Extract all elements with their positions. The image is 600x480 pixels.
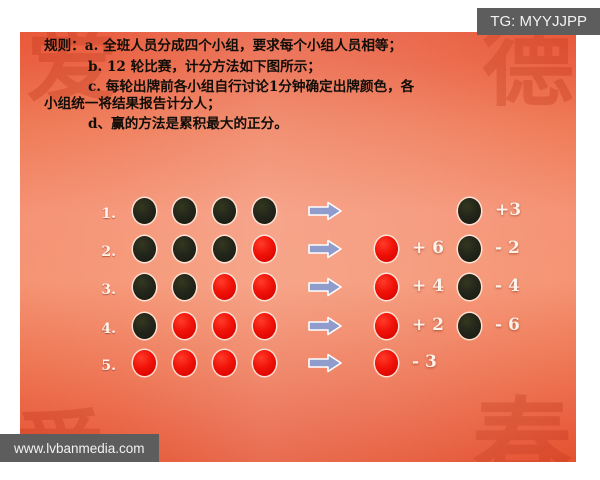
row-number-label: 1. [94,206,116,222]
black-card-dot [458,274,481,300]
black-card-dot [133,313,156,339]
right-arrow-icon [308,239,342,259]
black-card-dot [133,198,156,224]
right-arrow-icon [308,316,342,336]
diagram-row: 1.+3 [20,192,576,230]
red-card-dot [253,313,276,339]
right-arrow-icon [308,277,342,297]
rule-line-a: 规则：a. 全班人员分成四个小组，要求每个小组人员相等； [44,40,554,54]
black-group-score: - 4 [495,276,520,296]
rule-line-b: b. 12 轮比赛，计分方法如下图所示； [44,61,554,75]
red-card-dot [253,350,276,376]
right-arrow-icon [308,353,342,373]
row-number-label: 5. [94,358,116,374]
black-group-score: +3 [495,200,521,220]
rule-line-c-cont: 小组统一将结果报告计分人； [44,98,554,112]
red-card-dot [173,350,196,376]
red-card-dot [375,274,398,300]
row-number-label: 4. [94,321,116,337]
telegram-watermark: TG: MYYJJPP [477,8,600,35]
red-card-dot [375,350,398,376]
black-card-dot [213,236,236,262]
red-group-score: + 4 [412,276,444,296]
red-group-score: + 2 [412,315,444,335]
row-number-label: 2. [94,244,116,260]
red-card-dot [253,274,276,300]
rules-text-block: 规则：a. 全班人员分成四个小组，要求每个小组人员相等； b. 12 轮比赛，计… [44,40,554,139]
red-card-dot [375,313,398,339]
website-watermark: www.lvbanmedia.com [0,434,159,462]
slide-canvas: 爱 德 爱 春 规则：a. 全班人员分成四个小组，要求每个小组人员相等； b. … [20,32,576,462]
black-card-dot [173,274,196,300]
black-card-dot [213,198,236,224]
rule-line-d: d、赢的方法是累积最大的正分。 [44,118,554,132]
black-card-dot [173,236,196,262]
black-group-score: - 2 [495,238,520,258]
black-group-score: - 6 [495,315,520,335]
red-group-score: + 6 [412,238,444,258]
red-card-dot [173,313,196,339]
seal-watermark-bottom-right: 春 [472,403,572,462]
red-card-dot [133,350,156,376]
black-card-dot [253,198,276,224]
diagram-row: 5.- 3 [20,344,576,382]
diagram-row: 2.+ 6- 2 [20,230,576,268]
scoring-diagram: 1.+32.+ 6- 23.+ 4- 44.+ 2- 65.- 3 [20,192,576,402]
red-card-dot [213,350,236,376]
red-card-dot [213,274,236,300]
row-number-label: 3. [94,282,116,298]
diagram-row: 4.+ 2- 6 [20,307,576,345]
red-card-dot [375,236,398,262]
black-card-dot [458,313,481,339]
black-card-dot [133,236,156,262]
rule-line-c: c. 每轮出牌前各小组自行讨论1分钟确定出牌颜色，各 [44,81,554,95]
diagram-row: 3.+ 4- 4 [20,268,576,306]
black-card-dot [133,274,156,300]
black-card-dot [458,236,481,262]
black-card-dot [173,198,196,224]
red-card-dot [213,313,236,339]
red-group-score: - 3 [412,352,437,372]
right-arrow-icon [308,201,342,221]
black-card-dot [458,198,481,224]
red-card-dot [253,236,276,262]
